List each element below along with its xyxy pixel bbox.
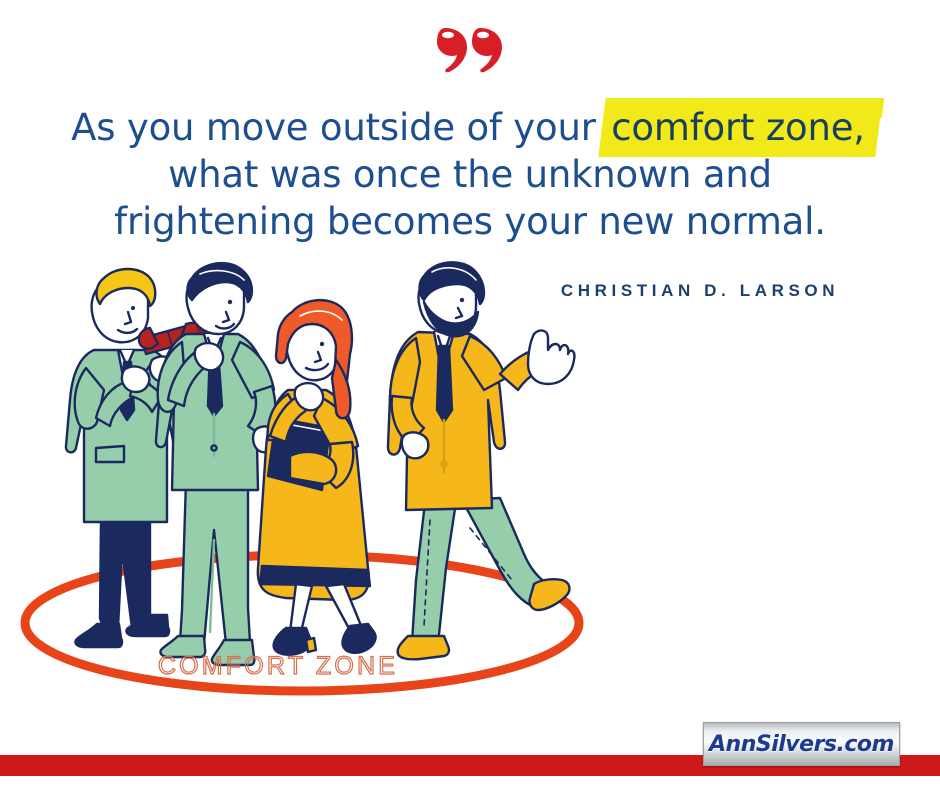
quote-graphic-canvas: As you move outside of your comfort zone… [0,0,940,788]
comfort-zone-illustration: COMFORT ZONE [0,250,640,710]
figure-man-stepping-out [388,262,574,659]
figure-man-thinking [156,263,278,665]
figure-woman-with-book [258,300,376,655]
comfort-zone-label: COMFORT ZONE [158,652,398,680]
watermark-text: AnnSilvers.com [709,732,894,757]
quote-line-1-pre: As you move outside of your [71,106,607,149]
quote-text-block: As you move outside of your comfort zone… [50,104,890,245]
quote-line-3: frightening becomes your new normal. [50,198,890,245]
double-quote-icon [0,26,940,78]
quote-line-2: what was once the unknown and [50,151,890,198]
highlight-text: comfort zone, [611,106,865,149]
highlight-comfort-zone: comfort zone, [607,104,869,151]
watermark-plaque[interactable]: AnnSilvers.com [703,722,900,766]
quote-line-1: As you move outside of your comfort zone… [50,104,890,151]
